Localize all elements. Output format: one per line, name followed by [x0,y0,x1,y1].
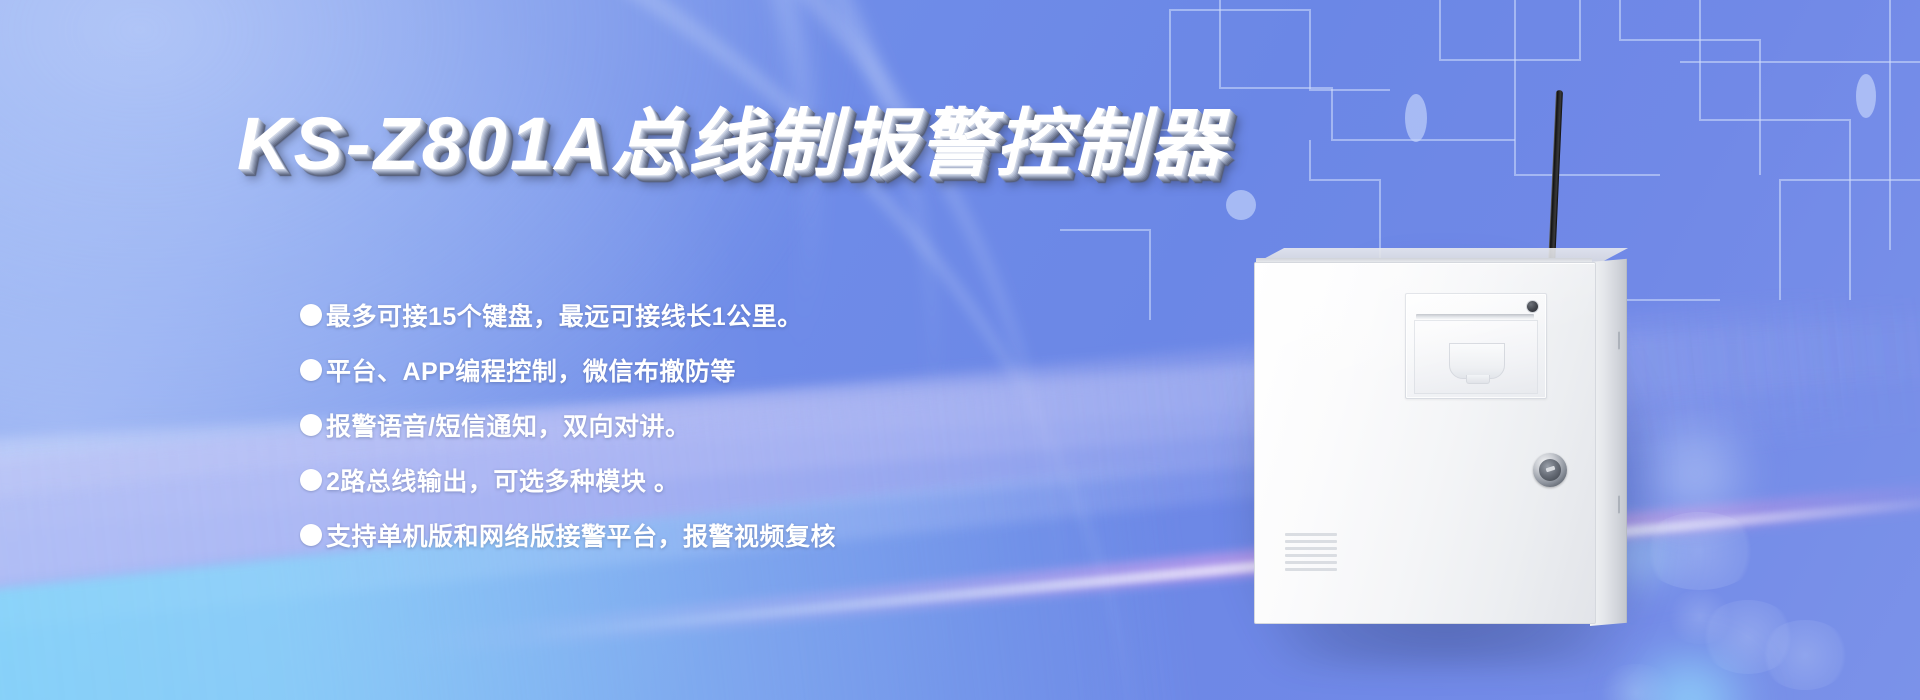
printer-door [1414,320,1538,394]
bokeh-circle-3 [1760,620,1850,690]
feature-list: 最多可接15个键盘，最远可接线长1公里。 平台、APP编程控制，微信布撤防等 报… [300,287,1060,562]
page-title: KS-Z801A总线制报警控制器 [237,84,1227,191]
feature-text: 平台、APP编程控制，微信布撤防等 [326,352,736,388]
feature-text: 最多可接15个键盘，最远可接线长1公里。 [326,297,803,333]
list-item: 支持单机版和网络版接警平台，报警视频复核 [300,507,1060,562]
filled-circle-bullet-icon [300,304,322,326]
list-item: 平台、APP编程控制，微信布撤防等 [300,342,1060,397]
filled-circle-bullet-icon [300,524,322,546]
feature-text: 报警语音/短信通知，双向对讲。 [326,407,690,443]
ventilation-louvers-icon [1285,533,1337,571]
feature-text: 支持单机版和网络版接警平台，报警视频复核 [326,517,836,553]
status-led-icon [1527,301,1538,312]
list-item: 最多可接15个键盘，最远可接线长1公里。 [300,287,1060,342]
product-image [1230,80,1700,640]
filled-circle-bullet-icon [300,414,322,436]
bokeh-circle-5 [1596,664,1676,700]
filled-circle-bullet-icon [300,469,322,491]
enclosure-front-face [1254,262,1596,624]
feature-text: 2路总线输出，可选多种模块 。 [326,462,679,498]
printer-pull-tab [1449,343,1505,379]
printer-paper-slot [1416,314,1534,319]
printer-panel [1405,293,1547,399]
bokeh-circle-2 [1700,600,1796,674]
list-item: 报警语音/短信通知，双向对讲。 [300,397,1060,452]
key-lock-icon [1533,453,1567,487]
product-banner: KS-Z801A总线制报警控制器 最多可接15个键盘，最远可接线长1公里。 平台… [0,0,1920,700]
filled-circle-bullet-icon [300,359,322,381]
list-item: 2路总线输出，可选多种模块 。 [300,452,1060,507]
